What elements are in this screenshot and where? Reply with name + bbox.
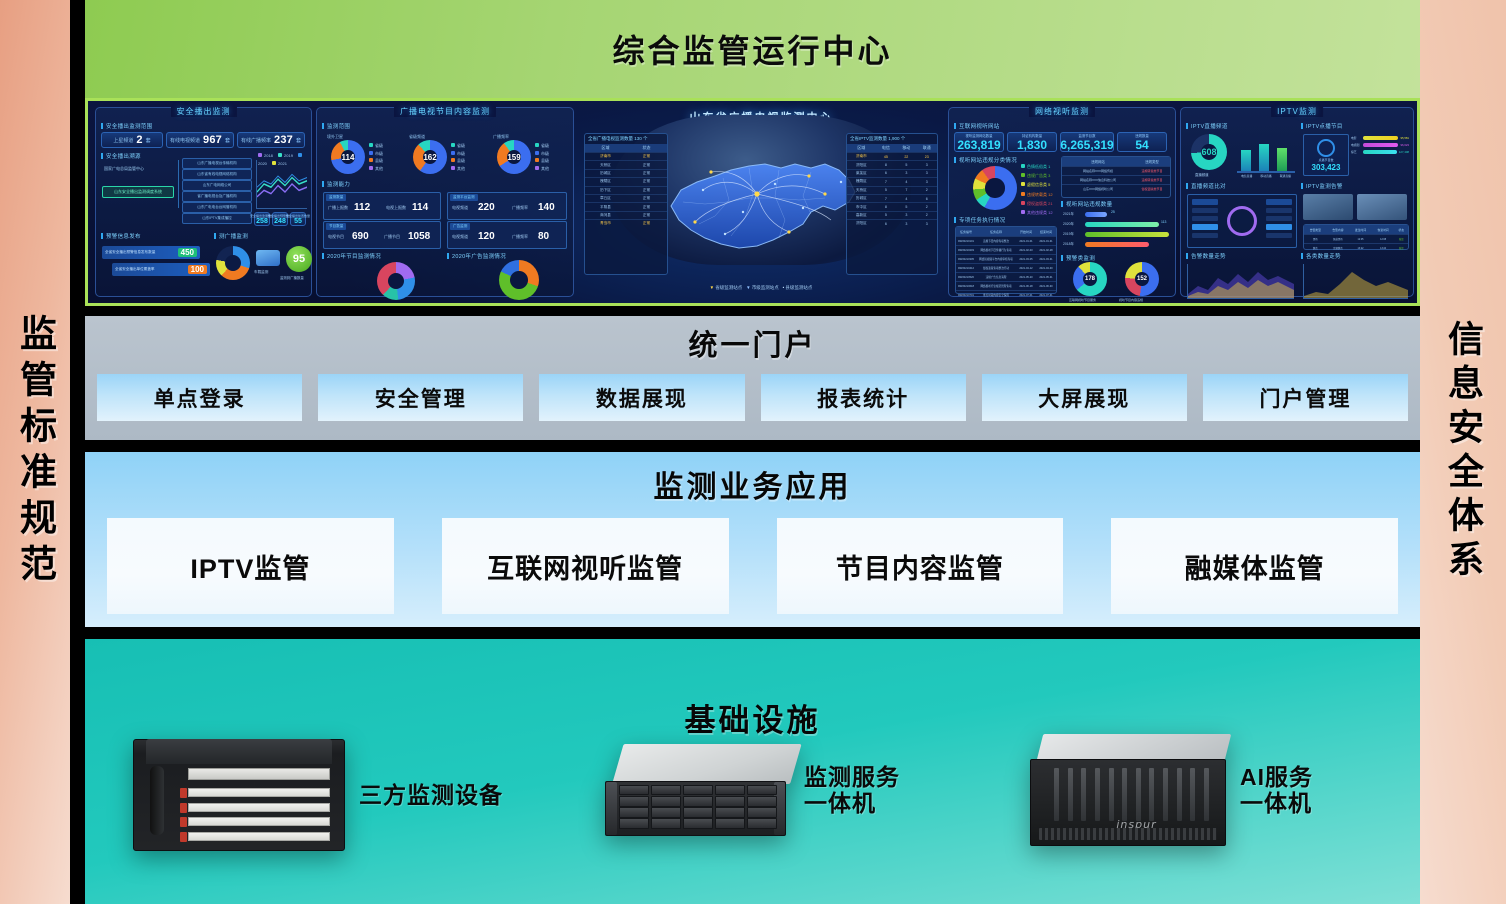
- group-label: IPTV点播节目: [1301, 122, 1343, 130]
- vehicle-label: 车载监测: [254, 270, 268, 275]
- left-rail-label: 监管标准规范: [17, 314, 54, 590]
- task-table: 任务编号任务名称 开始时间结束时间 RW20210101违规节目内容专项整治20…: [955, 226, 1057, 294]
- tree-node: 山东安全播出监测调度系统: [102, 186, 174, 198]
- portal-layer: 统一门户 单点登录 安全管理 数据展现 报表统计 大屏展现 门户管理: [85, 316, 1420, 440]
- donut-chart: [973, 166, 1017, 210]
- kpi-cable-radio: 有线广播频率 237 套: [237, 132, 305, 148]
- live-bar-chart: [1237, 138, 1295, 172]
- dashboard-canvas: 安全播出监测 安全播出监测范围 上星频道 2 套 有线电视频道 967 套 有线…: [88, 101, 1417, 303]
- infra-item-monitoring-server: 监测服务 一体机: [605, 744, 900, 836]
- table-row: 章丘区 正常: [585, 194, 667, 202]
- panel-caption: 安全播出监测: [171, 106, 237, 117]
- donut-legend: 省级市级 县级其他: [535, 142, 549, 172]
- table-row: 槐荫区 7 4 3: [847, 177, 937, 185]
- portal-btn-security[interactable]: 安全管理: [318, 374, 523, 421]
- group-label: 安全播出监测范围: [101, 122, 152, 130]
- group-label: 视听网站违规分类情况: [954, 156, 1017, 164]
- portal-button-row: 单点登录 安全管理 数据展现 报表统计 大屏展现 门户管理: [97, 374, 1408, 421]
- table-row: 历城区 7 4 6: [847, 194, 937, 202]
- panel-caption: 广播电视节目内容监测: [394, 106, 496, 117]
- year-label: 2021年: [1063, 211, 1074, 216]
- vod-total: 点播节目数 303,423: [1303, 134, 1349, 176]
- kpi-violations: 违规数量 54: [1117, 132, 1167, 152]
- vehicle-icon: [256, 250, 280, 266]
- table-row: 莱芜区 6 3 3: [847, 169, 937, 177]
- right-rail-label: 信息安全体系: [1445, 320, 1481, 584]
- capability-box: 节目数量 电视节目 690 广播节目 1058: [323, 221, 441, 249]
- app-card-convergent-media[interactable]: 融媒体监管: [1111, 518, 1398, 614]
- app-card-internet-av[interactable]: 互联网视听监管: [442, 518, 729, 614]
- table-row: 青岛市 正常: [585, 219, 667, 227]
- applications-title: 监测业务应用: [85, 462, 1420, 506]
- table-row: 济南市 45 22 23: [847, 152, 937, 160]
- year-label: 2018年: [1063, 241, 1074, 246]
- header-band: 综合监管运行中心: [85, 0, 1420, 98]
- applications-card-row: IPTV监管 互联网视听监管 节目内容监管 融媒体监管: [107, 518, 1398, 614]
- kpi-licensed: 持证机构数量 1,830: [1007, 132, 1057, 152]
- rack-chassis-icon: [133, 739, 345, 851]
- kpi-satellite: 上星频道 2 套: [101, 132, 163, 148]
- group-label: 2020年节目监测情况: [322, 252, 381, 260]
- trend-stat: 安全播出处置数量 55: [290, 212, 306, 226]
- donut-title: 省级频道: [409, 134, 425, 140]
- donut-chart: [377, 262, 415, 300]
- table-row: 高新区 5 3 2: [847, 211, 937, 219]
- year-label: 2020年: [1063, 221, 1074, 226]
- capability-box: 广告监测 电视频道 120 广播频率 80: [447, 221, 567, 249]
- group-label: 视听网站违规数量: [1061, 200, 1112, 208]
- capability-box: 监测数量 广播上报数 112 电视上报数 114: [323, 192, 441, 220]
- map-legend: ▼ 省级监测站点 ▼ 市级监测站点 • 县级监测站点: [710, 285, 813, 291]
- group-label: 安全播出溯源: [101, 152, 141, 160]
- table-row: 济南市 正常: [585, 152, 667, 160]
- table-row: 济阳区 8 5 3: [847, 160, 937, 168]
- map-panel: 山东省广播电视监测中心: [580, 105, 942, 299]
- year-label: 2019年: [1063, 231, 1074, 236]
- table-row: 商河县 正常: [585, 211, 667, 219]
- donut-chart: [499, 260, 539, 300]
- kpi-sites: 视听监测网站数量 263,819: [954, 132, 1004, 152]
- channel-compare: [1187, 194, 1297, 248]
- dashboard-screenshot: 安全播出监测 安全播出监测范围 上星频道 2 套 有线电视频道 967 套 有线…: [85, 98, 1420, 306]
- iptv-alarm-thumb: [1357, 194, 1407, 220]
- portal-btn-bigscreen[interactable]: 大屏展现: [982, 374, 1187, 421]
- score-label: 监测到广播数量: [280, 275, 304, 280]
- group-label: 预警信息发布: [101, 232, 141, 240]
- infrastructure-layer: 基础设施 三方监测设备: [85, 639, 1420, 904]
- panel-caption: 网络视听监测: [1029, 106, 1095, 117]
- tree-leaf: 山东省有线电视网络机构: [182, 169, 252, 180]
- page-title: 综合监管运行中心: [612, 26, 892, 72]
- group-label: IPTV监测告警: [1301, 182, 1343, 190]
- iptv-alarm-thumb: [1303, 194, 1353, 220]
- portal-btn-admin[interactable]: 门户管理: [1203, 374, 1408, 421]
- violation-table: 违规网站违规类型 网站名称XXX网络传媒违规转载类节目 网站名称XXX信息科技公…: [1061, 156, 1171, 198]
- donut-title: 境外卫星: [327, 134, 343, 140]
- map-right-table: 全省IPTV监测数量 1,900 个 区域 电信 移动 联通 济南市 45 22…: [846, 133, 938, 275]
- table-row: 天桥区 5 7 2: [847, 186, 937, 194]
- count-trend-chart: [1303, 264, 1408, 299]
- group-label: 各类数量走势: [1301, 252, 1341, 260]
- capability-box: 监测平台监测 电视频道 220 广播频率 140: [447, 192, 567, 220]
- panel-online-av: 网络视听监测 互联网视听网站 视听监测网站数量 263,819 持证机构数量 1…: [948, 107, 1176, 297]
- vod-bars: 电影 95,581 电视剧 96,623 综艺 127,408: [1351, 136, 1409, 154]
- year-bar: [1085, 222, 1159, 227]
- infra-label: AI服务 一体机: [1240, 764, 1313, 817]
- group-label: 互联网视听网站: [954, 122, 1000, 130]
- table-row: 历下区 正常: [585, 186, 667, 194]
- tree-leaf: 山东广电电台台网管机构: [182, 202, 252, 213]
- radial-gauge: [216, 246, 250, 280]
- table-row: 平阴县 正常: [585, 202, 667, 210]
- year-bar: [1085, 242, 1149, 247]
- left-rail-standards: 监管标准规范: [0, 0, 70, 904]
- table-header: 区域 状态: [585, 144, 667, 152]
- donut-legend: 省级市级 县级其他: [369, 142, 383, 172]
- portal-btn-reports[interactable]: 报表统计: [761, 374, 966, 421]
- group-label: IPTV直播频道: [1186, 122, 1228, 130]
- alarm-trend-chart: [1187, 264, 1294, 299]
- layer-stack: 综合监管运行中心 安全播出监测 安全播出监测范围 上星频道 2 套 有线电视频道…: [85, 0, 1420, 904]
- kpi-cable-tv: 有线电视频道 967 套: [166, 132, 234, 148]
- alert-row: 全省安全播出预警信息发布数量 450: [102, 246, 200, 259]
- table-row: 济阳区 6 3 3: [847, 219, 937, 227]
- table-row: 槐荫区 正常: [585, 177, 667, 185]
- group-label: 专项任务执行情况: [954, 216, 1005, 224]
- year-bar: [1085, 212, 1107, 217]
- donut-chart: 159: [497, 140, 531, 174]
- table-caption: 全省广播电视监测数量 130 个: [585, 134, 667, 144]
- applications-layer: 监测业务应用 IPTV监管 互联网视听监管 节目内容监管 融媒体监管: [85, 452, 1420, 627]
- tree-root: 国家广电总局监管中心: [104, 166, 144, 172]
- tree-spine: [178, 160, 179, 208]
- trend-chart: [256, 160, 307, 209]
- app-card-iptv[interactable]: IPTV监管: [107, 518, 394, 614]
- tree-leaf: 山东IPTV集成播控: [182, 213, 252, 224]
- year-bar: [1085, 232, 1169, 237]
- table-caption: 全省IPTV监测数量 1,900 个: [847, 134, 937, 144]
- shandong-map: [653, 154, 869, 258]
- tree-leaf: 山东广电网络公司: [182, 180, 252, 191]
- kpi-programs: 监测节目数 6,265,319: [1060, 132, 1114, 152]
- alert-row: 全省安全播出单位覆盖率 100: [112, 263, 210, 276]
- portal-btn-data[interactable]: 数据展现: [539, 374, 744, 421]
- alarm-table: 告警类型告警内容 发生时间恢复时间状态 黑场频道黑场12:0512:08恢复 静…: [1303, 224, 1409, 250]
- portal-btn-sso[interactable]: 单点登录: [97, 374, 302, 421]
- panel-broadcast-safety: 安全播出监测 安全播出监测范围 上星频道 2 套 有线电视频道 967 套 有线…: [95, 107, 312, 297]
- tree-leaf: 省广播电视台及广播机构: [182, 191, 252, 202]
- donut-chart: 152: [1125, 262, 1159, 296]
- table-row: 市中区 8 5 2: [847, 202, 937, 210]
- donut-chart: 114: [331, 140, 365, 174]
- category-legend: 色情低俗类 1 违规广告类 3 虚假信息类 5 违规转载类 12 侵权盗版类 2…: [1021, 162, 1053, 217]
- app-card-program-content[interactable]: 节目内容监管: [777, 518, 1064, 614]
- group-label: 测广播监测: [214, 232, 248, 240]
- group-label: 直播频道比对: [1186, 182, 1226, 190]
- trend-legend: 2018 2019 2020 2021: [258, 152, 311, 167]
- group-label: 2020年广告监测情况: [447, 252, 506, 260]
- tree-leaf: 山东广播电视台传输机构: [182, 158, 252, 169]
- ai-server-icon: inspur: [1030, 734, 1226, 846]
- group-label: 预警类监测: [1061, 254, 1095, 262]
- infra-label: 监测服务 一体机: [804, 764, 900, 817]
- panel-program-content: 广播电视节目内容监测 监测范围 境外卫星 114 省级市级 县级其他 省级频道 …: [316, 107, 574, 297]
- group-label: 监测范围: [322, 122, 350, 130]
- infra-item-third-party: 三方监测设备: [133, 739, 503, 851]
- donut-legend: 省级市级 县级其他: [451, 142, 465, 172]
- group-label: 告警数量走势: [1186, 252, 1226, 260]
- gauge-live-channels: 608: [1191, 134, 1227, 170]
- donut-chart: 178: [1073, 262, 1107, 296]
- table-row: 历城区 正常: [585, 169, 667, 177]
- portal-title: 统一门户: [85, 322, 1420, 364]
- panel-caption: IPTV监测: [1271, 106, 1323, 117]
- bar-labels: 电信直播 移动直播 联通直播: [1237, 174, 1295, 178]
- group-label: 监测能力: [322, 180, 350, 188]
- donut-chart: 162: [413, 140, 447, 174]
- architecture-diagram: 监管标准规范 信息安全体系 综合监管运行中心 安全播出监测 安全播出监测范围 上…: [0, 0, 1506, 904]
- score-badge: 95: [286, 246, 312, 272]
- rack-server-icon: [605, 744, 790, 836]
- right-rail-security: 信息安全体系: [1420, 0, 1506, 904]
- infra-item-ai-server: inspur AI服务 一体机: [1030, 734, 1313, 846]
- infra-label: 三方监测设备: [359, 782, 503, 808]
- donut-title: 广播频率: [493, 134, 509, 140]
- table-header: 区域 电信 移动 联通: [847, 144, 937, 152]
- map-left-table: 全省广播电视监测数量 130 个 区域 状态 济南市 正常 天桥区 正常: [584, 133, 668, 275]
- panel-iptv: IPTV监测 IPTV直播频道 IPTV点播节目 608 直播频道 电信直: [1180, 107, 1414, 297]
- table-row: 天桥区 正常: [585, 160, 667, 168]
